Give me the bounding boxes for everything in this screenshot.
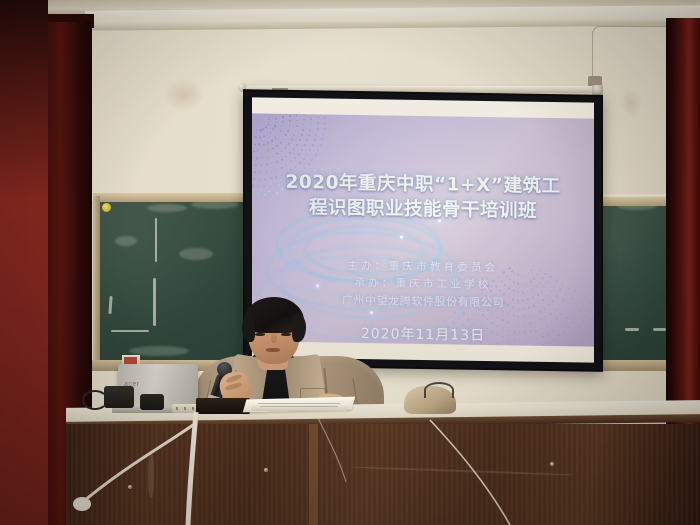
coiled-cable bbox=[82, 390, 108, 410]
curtain-right-red bbox=[672, 18, 700, 458]
photograph-lecture-room: 2020年重庆中职“1+X”建筑工 程识图职业技能骨干培训班 主办：重庆市教育委… bbox=[0, 0, 700, 525]
power-adapter-secondary bbox=[140, 394, 164, 410]
sticker-icon bbox=[102, 203, 111, 212]
nose bbox=[271, 332, 277, 343]
decorative-ring bbox=[268, 232, 456, 311]
slide-title-line2: 程识图职业技能骨干培训班 bbox=[252, 194, 594, 224]
bag-handle bbox=[424, 382, 454, 398]
table-front-panel bbox=[66, 424, 700, 525]
curtain-left-shading bbox=[0, 0, 48, 525]
decorative-ring bbox=[290, 218, 440, 282]
slide-host-line: 承办：重庆市工业学校 bbox=[252, 273, 594, 293]
chalkboard-left-frame-top bbox=[93, 193, 249, 202]
decorative-ring bbox=[306, 226, 422, 274]
table-center-seam bbox=[309, 424, 318, 525]
hair-left-side bbox=[242, 316, 255, 342]
mouth bbox=[266, 348, 280, 352]
hair-right-side bbox=[292, 315, 306, 342]
chalkboard-left-frame-left bbox=[93, 196, 100, 368]
power-adapter bbox=[104, 386, 134, 408]
decorative-ring bbox=[278, 210, 440, 283]
screen-mount-right bbox=[592, 85, 603, 95]
wall-stain-secondary bbox=[620, 88, 642, 118]
wall-stain bbox=[163, 78, 205, 112]
slide-organizer-line: 主办：重庆市教育委员会 bbox=[252, 256, 594, 276]
document-papers-stack bbox=[251, 403, 349, 411]
slide-title-line1: 2020年重庆中职“1+X”建筑工 bbox=[252, 169, 594, 199]
